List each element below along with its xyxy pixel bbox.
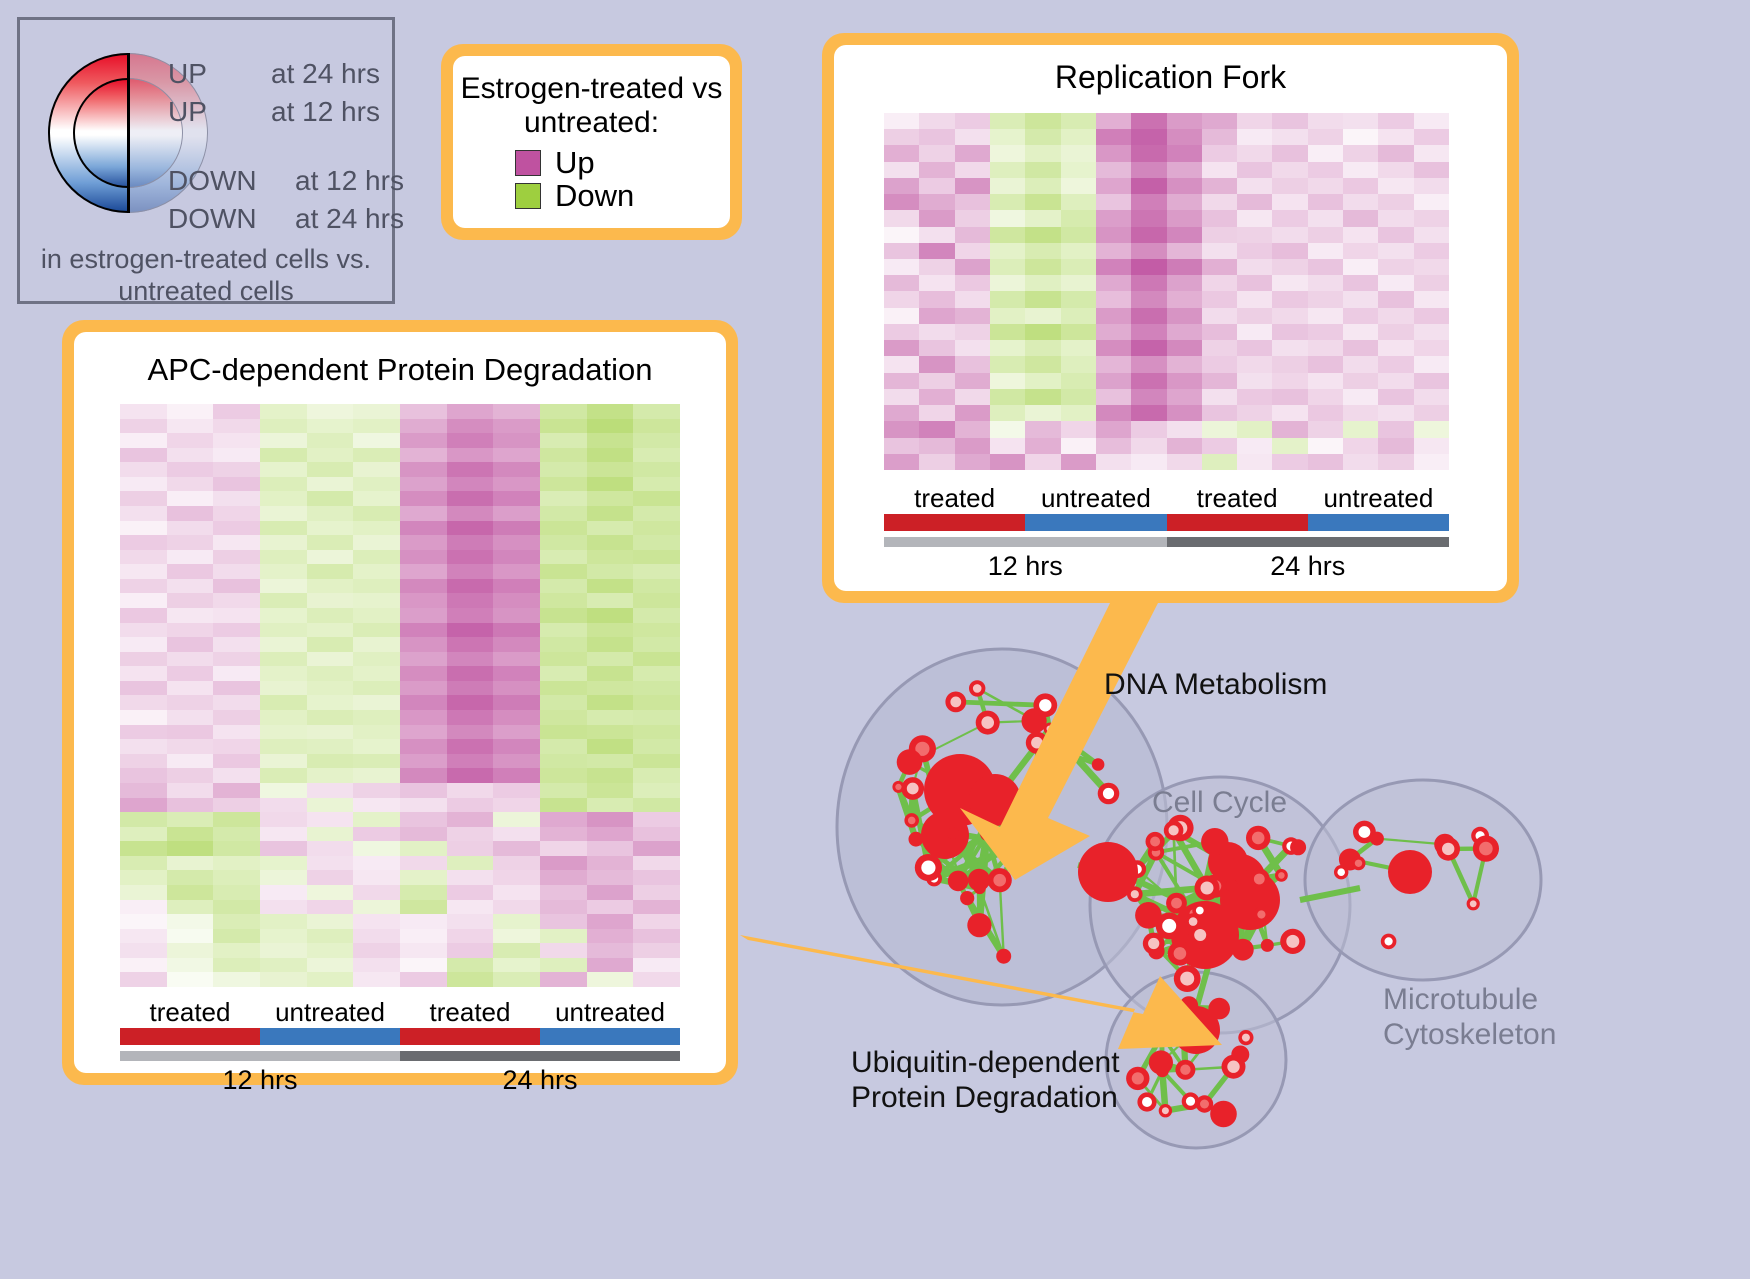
heatmap-cell [884,291,919,307]
network-node [1238,1030,1253,1045]
heatmap-cell [213,972,260,987]
heatmap-cell [260,841,307,856]
heatmap-cell [587,783,634,798]
network-node [1018,814,1046,842]
heatmap-cell [400,477,447,492]
network-hub-node [1078,842,1138,902]
heatmap-cell [1096,421,1131,437]
heatmap-cell [990,421,1025,437]
heatmap-cell [884,308,919,324]
heatmap-cell [1272,178,1307,194]
heatmap-cell [447,491,494,506]
heatmap-cell [540,914,587,929]
heatmap-cell [1131,178,1166,194]
heatmap-cell [955,194,990,210]
heatmap-cell [1237,340,1272,356]
heatmap-cell [353,623,400,638]
heatmap-cell [447,695,494,710]
heatmap-cell [307,739,354,754]
heatmap-cell [1202,210,1237,226]
heatmap-cell [260,419,307,434]
heatmap-cell [1202,259,1237,275]
network-node-core [983,831,990,838]
heatmap-cell [353,754,400,769]
heatmap-cell [167,972,214,987]
heatmap-cell [587,564,634,579]
heatmap-cell [884,389,919,405]
heatmap-cell [587,943,634,958]
heatmap-cell [1343,373,1378,389]
heatmap-cell [884,227,919,243]
heatmap-cell [213,623,260,638]
network-node [904,813,919,828]
heatmap-cell [400,958,447,973]
heatmap-cell [493,783,540,798]
heatmap-cell [633,870,680,885]
network-node-core [1158,1009,1168,1019]
legend-item-up-label: Up [555,147,595,178]
heatmap-cell [1202,243,1237,259]
network-node [1467,897,1480,910]
heatmap-cell [1308,438,1343,454]
heatmap-cell [1272,227,1307,243]
network-node [1210,1101,1237,1128]
heatmap-cell [213,870,260,885]
heatmap-cell [1167,194,1202,210]
heatmap-cell [493,710,540,725]
heatmap-cell [213,725,260,740]
heatmap-cell [120,768,167,783]
heatmap-cell [540,623,587,638]
heatmap-cell [587,491,634,506]
heatmap-cell [120,754,167,769]
heatmap-cell [447,812,494,827]
heatmap-cell [884,356,919,372]
network-node-core [1189,920,1200,931]
heatmap-cell [260,564,307,579]
heatmap-cell [120,972,167,987]
heatmap-cell [540,827,587,842]
group-color-segment [400,1028,540,1045]
heatmap-cell [1096,113,1131,129]
heatmap-cell [884,438,919,454]
heatmap-cell [633,972,680,987]
heatmap-cell [1131,162,1166,178]
heatmap-cell [990,324,1025,340]
network-node [1290,839,1306,855]
heatmap-cell [167,812,214,827]
heatmap-cell [1167,356,1202,372]
network-node [1249,869,1270,890]
heatmap-cell [1308,194,1343,210]
heatmap-cell [919,210,954,226]
heatmap-cell [120,448,167,463]
group-label: treated [120,997,260,1028]
heatmap-cell [1414,389,1449,405]
heatmap-cell [400,739,447,754]
heatmap-cell [1202,178,1237,194]
network-node [1201,828,1228,855]
heatmap-cell [1025,113,1060,129]
network-node [1174,965,1201,992]
heatmap-cell [213,462,260,477]
heatmap-cell [1272,275,1307,291]
heatmap-cell [990,373,1025,389]
heatmap-cell [1096,291,1131,307]
heatmap-cell [1202,308,1237,324]
heatmap-cell [260,535,307,550]
heatmap-cell [307,681,354,696]
heatmap-cell [1167,227,1202,243]
heatmap-cell [260,579,307,594]
heatmap-cell [633,623,680,638]
network-node [1189,923,1212,946]
heatmap-cell [919,113,954,129]
heatmap-cell [1202,356,1237,372]
heatmap-cell [633,900,680,915]
heatmap-legend-title: Estrogen-treated vs untreated: [453,56,730,139]
heatmap-cell [587,666,634,681]
heatmap-cell [1202,373,1237,389]
heatmap-cell [213,900,260,915]
heatmap-cell [307,593,354,608]
heatmap-cell [1096,438,1131,454]
heatmap-cell [167,419,214,434]
heatmap-cell [353,433,400,448]
heatmap-cell [1378,145,1413,161]
heatmap-cell [587,593,634,608]
heatmap-cell [120,608,167,623]
heatmap-cell [633,448,680,463]
heatmap-cell [260,943,307,958]
heatmap-cell [540,870,587,885]
heatmap-cell [213,666,260,681]
network-node-core [1194,929,1206,941]
heatmap-cell [633,929,680,944]
heatmap-cell [260,623,307,638]
heatmap-cell [1343,275,1378,291]
heatmap-cell [633,637,680,652]
heatmap-cell [353,812,400,827]
label-at-12-down: at 12 hrs [295,165,404,197]
heatmap-cell [955,308,990,324]
heatmap-cell [1061,356,1096,372]
network-node [1022,708,1047,733]
network-node [1028,792,1048,812]
down-swatch-icon [515,183,541,209]
heatmap-cell [213,768,260,783]
group-label: untreated [260,997,400,1028]
heatmap-cell [1343,178,1378,194]
heatmap-cell [633,477,680,492]
heatmap-cell [353,564,400,579]
label-at-24-down: at 24 hrs [295,203,404,235]
heatmap-cell [260,798,307,813]
network-node [924,754,996,826]
heatmap-cell [400,448,447,463]
label-up-12: UP [168,96,207,128]
heatmap-cell [955,356,990,372]
heatmap-cell [493,943,540,958]
heatmap-cell [1378,324,1413,340]
heatmap-cell [400,491,447,506]
label-at-24-up: at 24 hrs [271,58,380,90]
heatmap-cell [1343,243,1378,259]
heatmap-cell [400,725,447,740]
group-label: untreated [540,997,680,1028]
heatmap-cell [1308,308,1343,324]
heatmap-cell [493,972,540,987]
heatmap-cell [493,666,540,681]
heatmap-cell [353,783,400,798]
figure-canvas: UP at 24 hrs UP at 12 hrs DOWN at 12 hrs… [0,0,1750,1279]
group-label: treated [884,483,1025,514]
heatmap-cell [447,885,494,900]
heatmap-cell [167,506,214,521]
heatmap-cell [260,652,307,667]
network-node-core [1227,1061,1239,1073]
heatmap-cell [307,885,354,900]
heatmap-cell [633,798,680,813]
heatmap-cell [919,340,954,356]
network-node [1204,874,1227,897]
heatmap-cell [1131,405,1166,421]
panel-title-apc: APC-dependent Protein Degradation [74,332,726,388]
network-node-core [1252,832,1265,845]
heatmap-cell [1061,324,1096,340]
network-node [988,868,1012,892]
heatmap-legend-items: Up Down [453,147,730,211]
network-node [1222,1055,1246,1079]
label-down-24: DOWN [168,203,257,235]
heatmap-cell [120,564,167,579]
network-node [980,827,993,840]
heatmap-cell [120,637,167,652]
network-node [1180,996,1199,1015]
heatmap-cell [540,958,587,973]
heatmap-cell [447,827,494,842]
heatmap-cell [447,783,494,798]
heatmap-cell [307,841,354,856]
network-node-core [1204,1036,1212,1044]
heatmap-cell [587,608,634,623]
heatmap-cell [1167,178,1202,194]
heatmap-cell [447,914,494,929]
heatmap-cell [400,943,447,958]
heatmap-cell [493,914,540,929]
heatmap-cell [540,477,587,492]
heatmap-cell [400,754,447,769]
heatmap-cell [120,943,167,958]
heatmap-cell [955,259,990,275]
heatmap-cell [260,972,307,987]
network-node [926,871,942,887]
heatmap-cell [1343,308,1378,324]
heatmap-cell [120,535,167,550]
heatmap-cell [1061,308,1096,324]
heatmap-cell [587,754,634,769]
heatmap-cell [1414,210,1449,226]
network-node-core [1132,1072,1144,1084]
heatmap-cell [587,870,634,885]
network-node [1434,834,1455,855]
heatmap-cell [587,768,634,783]
heatmap-cell [167,768,214,783]
heatmap-cell [587,812,634,827]
heatmap-cell [1414,291,1449,307]
heatmap-cell [307,827,354,842]
heatmap-cell [260,695,307,710]
heatmap-cell [1378,291,1413,307]
heatmap-cell [1096,454,1131,470]
network-node [945,692,966,713]
heatmap-cell [884,405,919,421]
heatmap-cell [633,593,680,608]
heatmap-cell [540,433,587,448]
heatmap-cell [353,914,400,929]
heatmap-cell [353,521,400,536]
network-node-core [1479,842,1493,856]
heatmap-cell [884,194,919,210]
network-node [1280,929,1305,954]
heatmap-cell [400,841,447,856]
heatmap-cell [400,885,447,900]
heatmap-cell [1272,405,1307,421]
heatmap-cell [1343,113,1378,129]
heatmap-cell [1096,356,1131,372]
heatmap-cell [447,900,494,915]
heatmap-cell [1237,227,1272,243]
heatmap-cell [353,768,400,783]
heatmap-cell [1272,243,1307,259]
network-node-core [1355,860,1362,867]
heatmap-cell [1202,194,1237,210]
network-node [1177,1022,1191,1036]
heatmap-cell [260,812,307,827]
heatmap-cell [919,373,954,389]
heatmap-cell [353,841,400,856]
heatmap-cell [400,666,447,681]
heatmap-cell [919,275,954,291]
heatmap-cell [1131,389,1166,405]
heatmap-cell [353,666,400,681]
heatmap-cell [1237,389,1272,405]
heatmap-cell [587,695,634,710]
network-node [1128,860,1146,878]
heatmap-cell [1061,129,1096,145]
heatmap-cell [1025,308,1060,324]
network-node [948,871,969,892]
heatmap-cell [447,623,494,638]
network-node-core [1039,699,1051,711]
heatmap-cell [400,433,447,448]
heatmap-cell [120,725,167,740]
heatmap-cell [919,405,954,421]
heatmap-cell [955,324,990,340]
colorwheel-graphic [48,40,188,240]
network-node [1471,827,1489,845]
heatmap-cell [1308,227,1343,243]
heatmap-cell [540,579,587,594]
network-node-core [1162,919,1176,933]
group-color-segment [1025,514,1166,531]
heatmap-cell [1025,356,1060,372]
heatmap-cell [400,870,447,885]
heatmap-cell [884,129,919,145]
heatmap-cell [1237,438,1272,454]
heatmap-cell [633,812,680,827]
heatmap-cell [447,856,494,871]
heatmap-cell [1167,145,1202,161]
heatmap-cell [1308,405,1343,421]
network-node-core [908,817,916,825]
heatmap-cell [1167,275,1202,291]
heatmap-cell [587,681,634,696]
heatmap-cell [307,972,354,987]
heatmap-cell [400,579,447,594]
heatmap-cell [400,623,447,638]
heatmap-cell [353,608,400,623]
heatmap-cell [447,652,494,667]
heatmap-cell [1061,275,1096,291]
heatmap-cell [1237,291,1272,307]
group-color-segment [1308,514,1449,531]
heatmap-cell [353,535,400,550]
heatmap-cell [1308,356,1343,372]
heatmap-cell [167,900,214,915]
heatmap-cell [167,695,214,710]
heatmap-cell [587,637,634,652]
heatmap-cell [955,291,990,307]
heatmap-cell [213,798,260,813]
heatmap-cell [1237,324,1272,340]
heatmap-cell [167,593,214,608]
heatmap-cell [213,637,260,652]
heatmap-cell [1131,308,1166,324]
heatmap-cell [633,404,680,419]
heatmap-cell [167,564,214,579]
heatmap-cell [260,477,307,492]
time-color-bar-apc [120,1051,680,1061]
heatmap-cell [990,389,1025,405]
heatmap-cell [919,129,954,145]
heatmap-cell [307,550,354,565]
network-node [909,735,936,762]
heatmap-cell [540,448,587,463]
heatmap-cell [1061,405,1096,421]
heatmap-cell [1131,438,1166,454]
heatmap-cell [167,491,214,506]
heatmap-cell [1202,291,1237,307]
heatmap-cell [353,419,400,434]
heatmap-cell [213,448,260,463]
heatmap-cell [990,259,1025,275]
heatmap-cell [884,324,919,340]
network-node [967,913,991,937]
heatmap-cell [1061,291,1096,307]
network-node-core [1254,874,1265,885]
time-color-bar-replication-fork [884,537,1449,547]
heatmap-cell [990,291,1025,307]
network-node-core [1033,797,1044,808]
heatmap-cell [213,477,260,492]
heatmap-cell [1167,373,1202,389]
heatmap-cell [1167,438,1202,454]
heatmap-cell [1025,129,1060,145]
heatmap-cell [447,433,494,448]
heatmap-cell [400,929,447,944]
heatmap-cell [1343,454,1378,470]
